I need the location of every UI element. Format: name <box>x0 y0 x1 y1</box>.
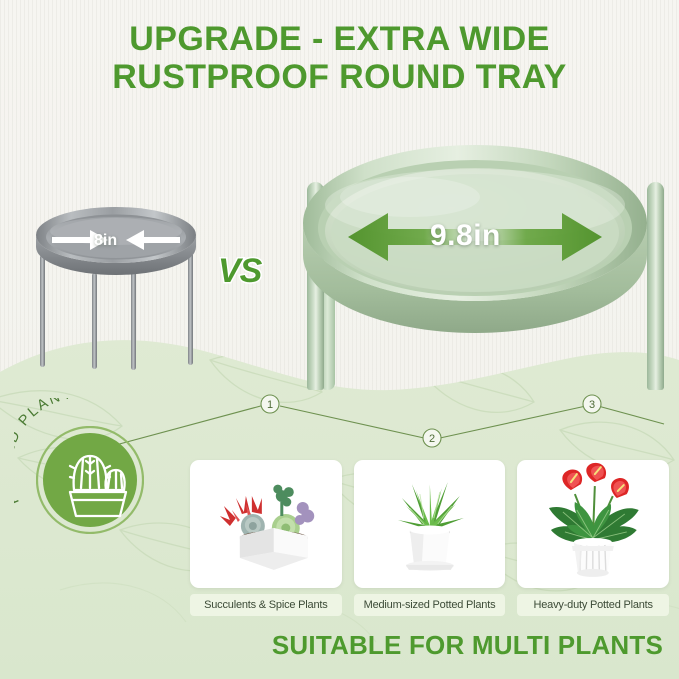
title-line-1: UPGRADE - EXTRA WIDE <box>0 20 679 58</box>
plant-cards-row <box>190 460 669 588</box>
old-tray-dimension-label: 8in <box>94 232 117 250</box>
old-gray-tray-illustration <box>28 195 208 370</box>
plant-card-medium[interactable] <box>354 460 506 588</box>
plant-card-labels-row: Succulents & Spice Plants Medium-sized P… <box>190 594 669 616</box>
card-label-medium: Medium-sized Potted Plants <box>354 594 506 616</box>
connector-marker-3: 3 <box>589 399 595 411</box>
title-line-2: RUSTPROOF ROUND TRAY <box>0 58 679 96</box>
connector-marker-2: 2 <box>429 433 435 445</box>
anthurium-in-ribbed-pot <box>517 460 669 588</box>
versus-label: VS <box>218 252 261 291</box>
new-green-tray-illustration <box>290 125 679 390</box>
plant-card-heavy-duty[interactable] <box>517 460 669 588</box>
page-title: UPGRADE - EXTRA WIDE RUSTPROOF ROUND TRA… <box>0 20 679 96</box>
card-label-succulents: Succulents & Spice Plants <box>190 594 342 616</box>
card-label-heavy-duty: Heavy-duty Potted Plants <box>517 594 669 616</box>
footer-tagline: SUITABLE FOR MULTI PLANTS <box>0 630 679 661</box>
plant-card-succulents[interactable] <box>190 460 342 588</box>
badge-curved-text: POTTED PLANT <box>14 398 164 548</box>
succulents-in-hexagon-pot <box>190 460 342 588</box>
connector-marker-1: 1 <box>267 399 273 411</box>
new-tray-dimension-label: 9.8in <box>430 219 501 253</box>
svg-text:POTTED PLANT: POTTED PLANT <box>14 398 75 507</box>
aloe-in-round-pot <box>354 460 506 588</box>
infographic-canvas: 8in <box>0 0 679 679</box>
